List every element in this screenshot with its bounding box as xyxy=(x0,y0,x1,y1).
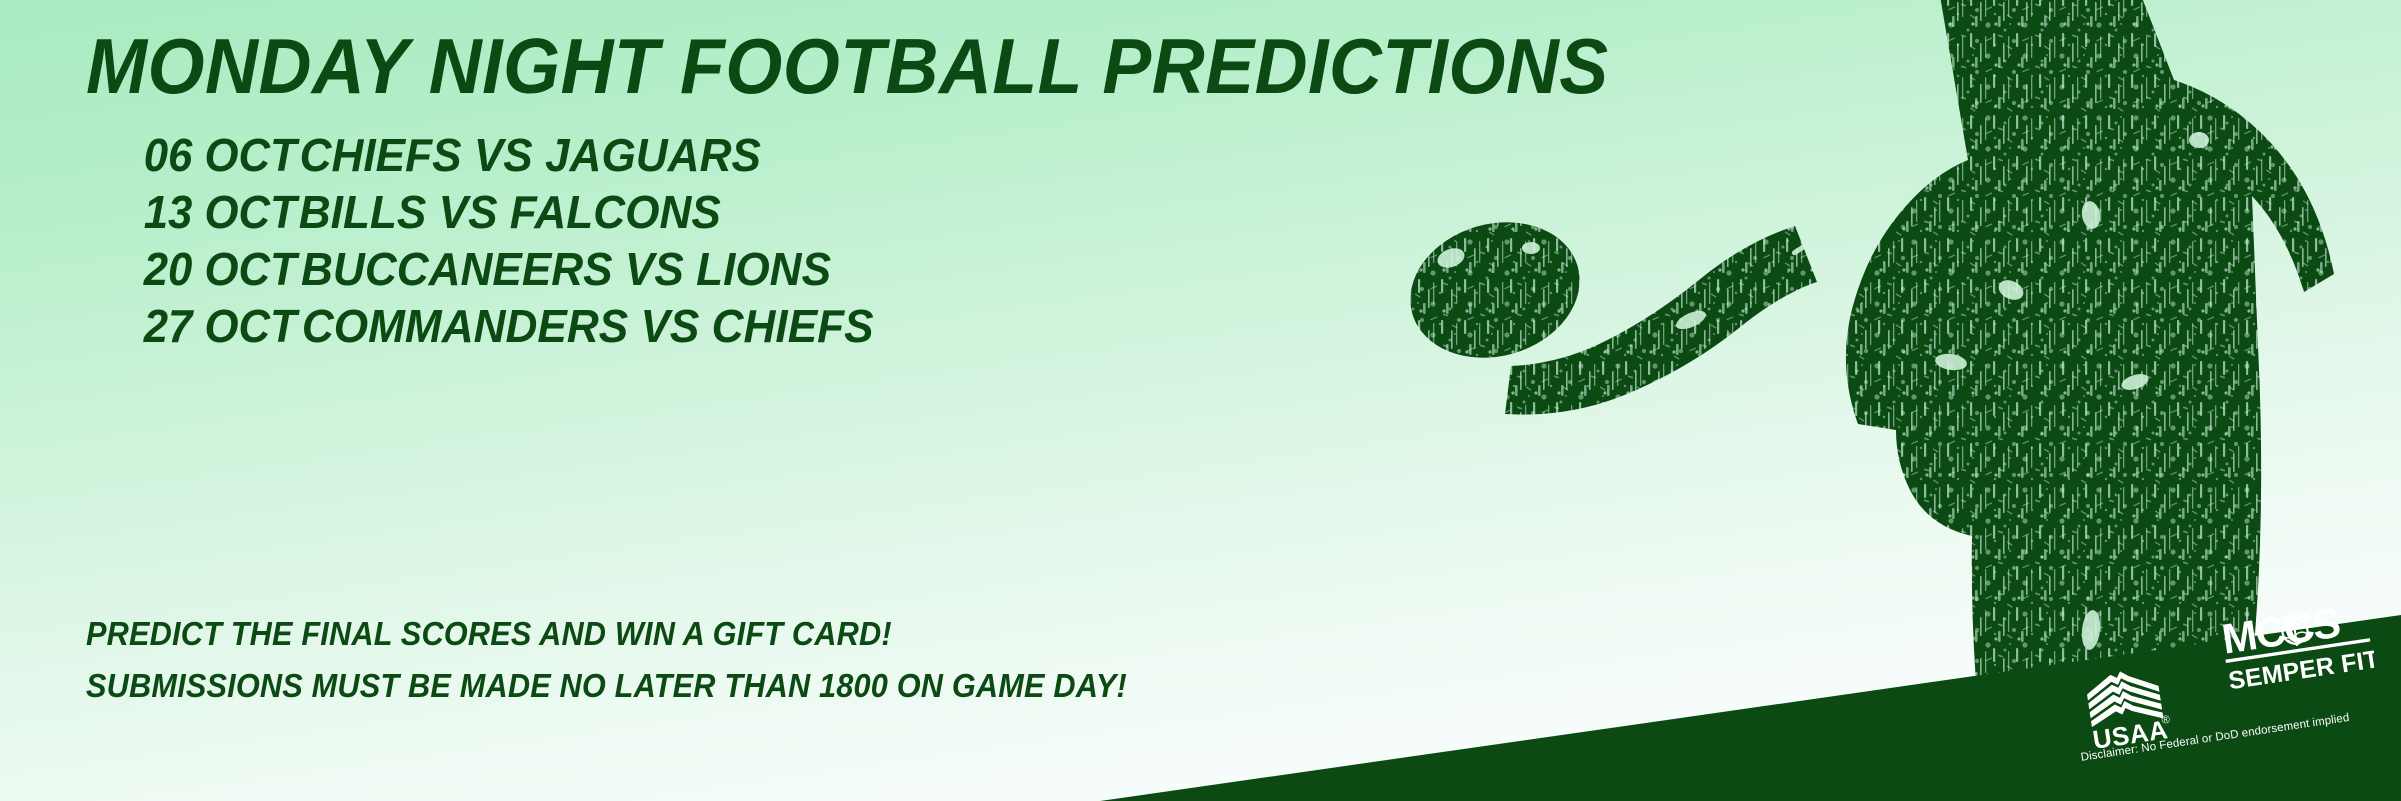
game-matchup: BILLS VS FALCONS xyxy=(299,185,721,239)
registered-trademark-icon: ® xyxy=(2161,714,2171,727)
cta-line-1: PREDICT THE FINAL SCORES AND WIN A GIFT … xyxy=(86,608,1127,660)
game-schedule-list: 06 OCT CHIEFS VS JAGUARS 13 OCT BILLS VS… xyxy=(140,128,885,356)
game-matchup: COMMANDERS VS CHIEFS xyxy=(302,299,874,353)
game-date: 13 OCT xyxy=(144,185,287,239)
game-matchup: CHIEFS VS JAGUARS xyxy=(300,128,761,182)
game-date: 20 OCT xyxy=(144,242,287,296)
list-item: 06 OCT CHIEFS VS JAGUARS xyxy=(140,128,885,185)
mccs-semper-fit-logo: MCCS SEMPER FIT xyxy=(2217,596,2377,695)
list-item: 13 OCT BILLS VS FALCONS xyxy=(140,185,885,242)
mnf-predictions-banner: MONDAY NIGHT FOOTBALL PREDICTIONS 06 OCT… xyxy=(0,0,2401,801)
list-item: 27 OCT COMMANDERS VS CHIEFS xyxy=(140,299,885,356)
game-date: 27 OCT xyxy=(144,299,287,353)
list-item: 20 OCT BUCCANEERS VS LIONS xyxy=(140,242,885,299)
game-matchup: BUCCANEERS VS LIONS xyxy=(301,242,831,296)
game-date: 06 OCT xyxy=(144,128,287,182)
page-title: MONDAY NIGHT FOOTBALL PREDICTIONS xyxy=(86,25,1609,108)
cta-line-2: SUBMISSIONS MUST BE MADE NO LATER THAN 1… xyxy=(86,660,1127,712)
call-to-action: PREDICT THE FINAL SCORES AND WIN A GIFT … xyxy=(86,608,1205,712)
